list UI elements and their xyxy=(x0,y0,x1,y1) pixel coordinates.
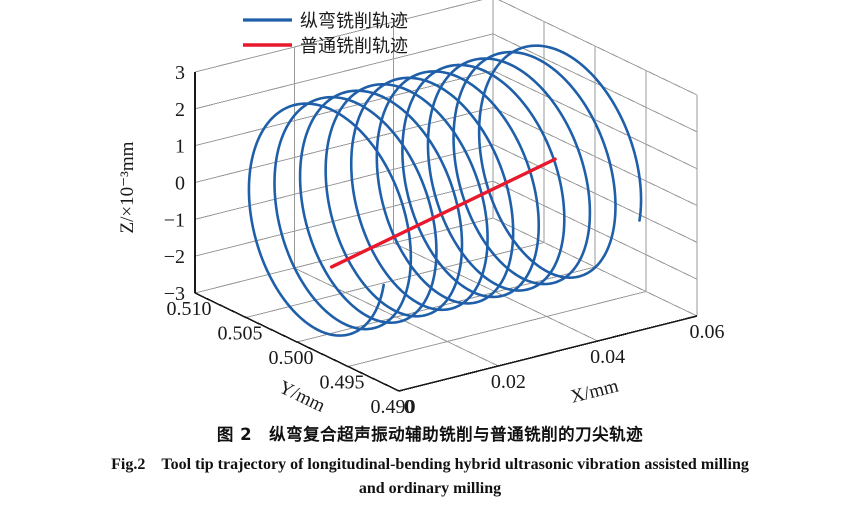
z-axis-title: Z/×10⁻³mm xyxy=(117,141,138,233)
trajectory-3d-plot: 3210−1−2−30.5100.5050.5000.4950.49000.02… xyxy=(0,0,860,420)
caption-english-line-2: and ordinary milling xyxy=(40,477,820,500)
gridline-back-z xyxy=(195,181,493,256)
axis-x-edge xyxy=(399,316,697,391)
caption-chinese: 图 2 纵弯复合超声振动辅助铣削与普通铣削的刀尖轨迹 xyxy=(0,424,860,445)
caption-english: Fig.2 Tool tip trajectory of longitudina… xyxy=(0,453,860,499)
z-tick-label: 0 xyxy=(175,173,185,195)
x-tick-label: 0 xyxy=(404,396,414,418)
gridline-back-z xyxy=(195,108,493,183)
y-tick-label: 0.505 xyxy=(218,323,263,345)
y-tick-label: 0.510 xyxy=(167,298,212,320)
figure-container: 3210−1−2−30.5100.5050.5000.4950.49000.02… xyxy=(0,0,860,529)
caption-english-line-1: Fig.2 Tool tip trajectory of longitudina… xyxy=(111,456,749,473)
plot-gridlines xyxy=(195,0,697,391)
y-tick-label: 0.495 xyxy=(320,372,365,394)
z-tick-label: 1 xyxy=(175,136,185,158)
x-tick-label: 0.04 xyxy=(590,346,625,368)
legend-label-ordinary: 普通铣削轨迹 xyxy=(300,36,408,57)
plot-tick-labels: 3210−1−2−30.5100.5050.5000.4950.49000.02… xyxy=(117,62,725,418)
plot-legend: 纵弯铣削轨迹普通铣削轨迹 xyxy=(243,11,408,57)
z-tick-label: −2 xyxy=(164,246,185,268)
figure-caption: 图 2 纵弯复合超声振动辅助铣削与普通铣削的刀尖轨迹 Fig.2 Tool ti… xyxy=(0,424,860,500)
x-tick-label: 0.06 xyxy=(690,321,725,343)
gridline-floor-y xyxy=(297,267,595,342)
z-tick-label: 2 xyxy=(175,99,185,121)
legend-label-longitudinal-bending: 纵弯铣削轨迹 xyxy=(300,11,408,32)
y-tick-label: 0.500 xyxy=(269,347,314,369)
x-tick-label: 0.02 xyxy=(491,371,526,393)
gridline-back-z xyxy=(195,144,493,219)
z-tick-label: −1 xyxy=(164,209,185,231)
z-tick-label: 3 xyxy=(175,62,185,84)
x-axis-title: X/mm xyxy=(568,376,620,408)
gridline-back-z xyxy=(195,71,493,146)
